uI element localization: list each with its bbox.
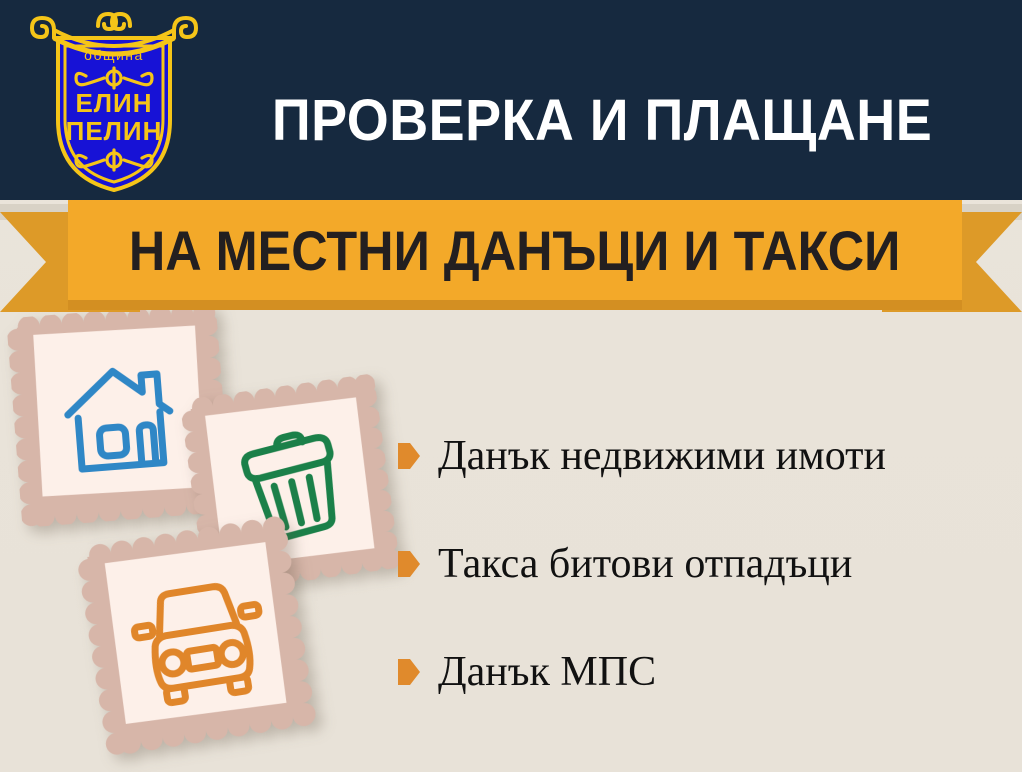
logo-name-line2: ПЕЛИН <box>66 116 163 146</box>
list-item[interactable]: Данък недвижими имоти <box>398 428 1008 484</box>
poster: община ЕЛИН ПЕЛИН ПРОВЕРКА И ПЛАЩАНЕ НА … <box>0 0 1022 772</box>
list-item[interactable]: Данък МПС <box>398 644 1008 700</box>
list-item-label: Данък МПС <box>438 647 656 697</box>
municipality-logo: община ЕЛИН ПЕЛИН <box>28 8 200 194</box>
list-item-label: Данък недвижими имоти <box>438 431 886 481</box>
subtitle-ribbon: НА МЕСТНИ ДАНЪЦИ И ТАКСИ <box>0 196 1022 312</box>
ribbon-body: НА МЕСТНИ ДАНЪЦИ И ТАКСИ <box>68 200 962 300</box>
logo-top-label: община <box>84 47 144 63</box>
bullet-arrow-icon <box>398 659 420 685</box>
bullet-arrow-icon <box>398 443 420 469</box>
page-title-line1: ПРОВЕРКА И ПЛАЩАНЕ <box>221 86 984 156</box>
header-banner: община ЕЛИН ПЕЛИН ПРОВЕРКА И ПЛАЩАНЕ НА … <box>0 0 1022 200</box>
list-item[interactable]: Такса битови отпадъци <box>398 536 1008 592</box>
stamp-card-car <box>75 515 318 758</box>
list-item-label: Такса битови отпадъци <box>438 539 852 589</box>
ribbon-label: НА МЕСТНИ ДАНЪЦИ И ТАКСИ <box>129 218 900 283</box>
page-title: ПРОВЕРКА И ПЛАЩАНЕ НА ЗАДЪЛЖЕНИЯ <box>221 16 984 366</box>
service-list: Данък недвижими имоти Такса битови отпад… <box>398 428 1008 700</box>
logo-name-line1: ЕЛИН <box>75 88 152 118</box>
stamp-collage <box>0 300 420 770</box>
bullet-arrow-icon <box>398 551 420 577</box>
